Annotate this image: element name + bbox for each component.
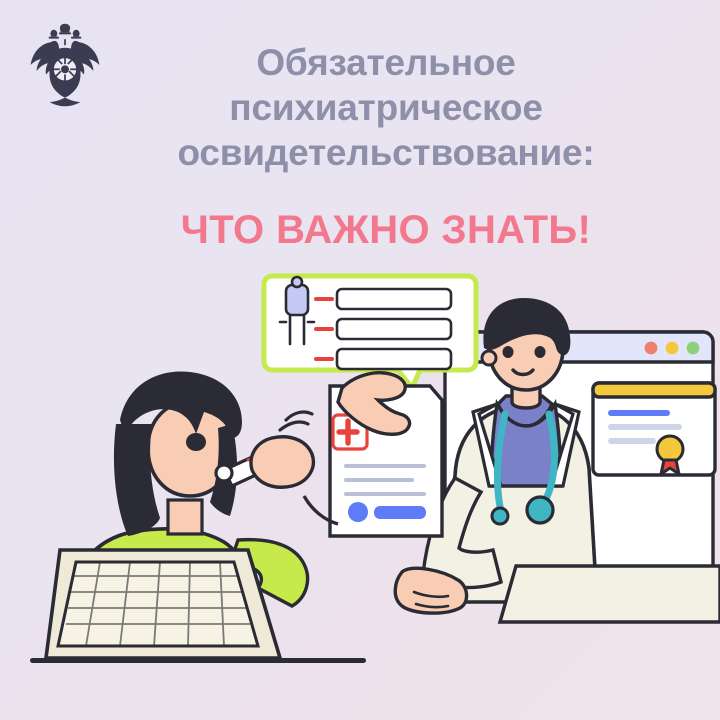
patient-eye [186,433,206,451]
certificate-card [593,383,715,475]
speech-bubble-checklist [264,276,476,388]
browser-dot-green [687,342,700,355]
doctor-and-patient-consultation-illustration [0,0,720,720]
laptop [46,550,280,658]
desk-line [30,658,366,663]
doctor-eye-right [535,346,546,358]
stethoscope-chestpiece [527,497,553,523]
doctor-eye-left [503,346,514,358]
patient-hand [251,437,313,487]
browser-dot-red [645,342,658,355]
poster: Обязательное психиатрическое освидетельс… [0,0,720,720]
browser-dot-yellow [666,342,679,355]
